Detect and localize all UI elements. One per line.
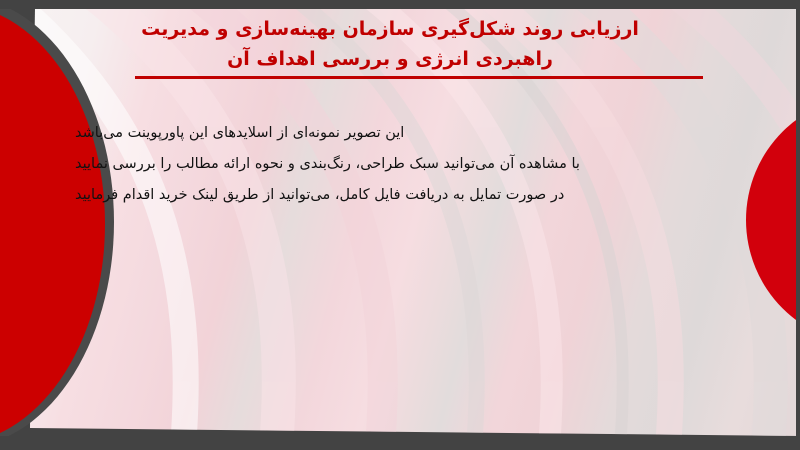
slide-title-line-1: ارزیابی روند شکل‌گیری سازمان بهینه‌سازی …	[40, 14, 740, 44]
slide-body-line-3: در صورت تمایل به دریافت فایل کامل، می‌تو…	[75, 180, 740, 211]
slide-body-text: این تصویر نمونه‌ای از اسلایدهای این پاور…	[75, 118, 740, 211]
slide-body-line-2: با مشاهده آن می‌توانید سبک طراحی، رنگ‌بن…	[75, 149, 740, 180]
frame-top-bar	[0, 0, 800, 9]
title-underline-rule	[135, 76, 703, 79]
slide-title: ارزیابی روند شکل‌گیری سازمان بهینه‌سازی …	[40, 14, 740, 74]
slide-body-line-1: این تصویر نمونه‌ای از اسلایدهای این پاور…	[75, 118, 740, 149]
frame-right-bar	[796, 0, 800, 450]
slide-content: ارزیابی روند شکل‌گیری سازمان بهینه‌سازی …	[40, 8, 785, 428]
presentation-slide: ارزیابی روند شکل‌گیری سازمان بهینه‌سازی …	[0, 0, 800, 450]
frame-bottom-bar	[0, 436, 800, 450]
slide-title-line-2: راهبردی انرژی و بررسی اهداف آن	[40, 44, 740, 74]
